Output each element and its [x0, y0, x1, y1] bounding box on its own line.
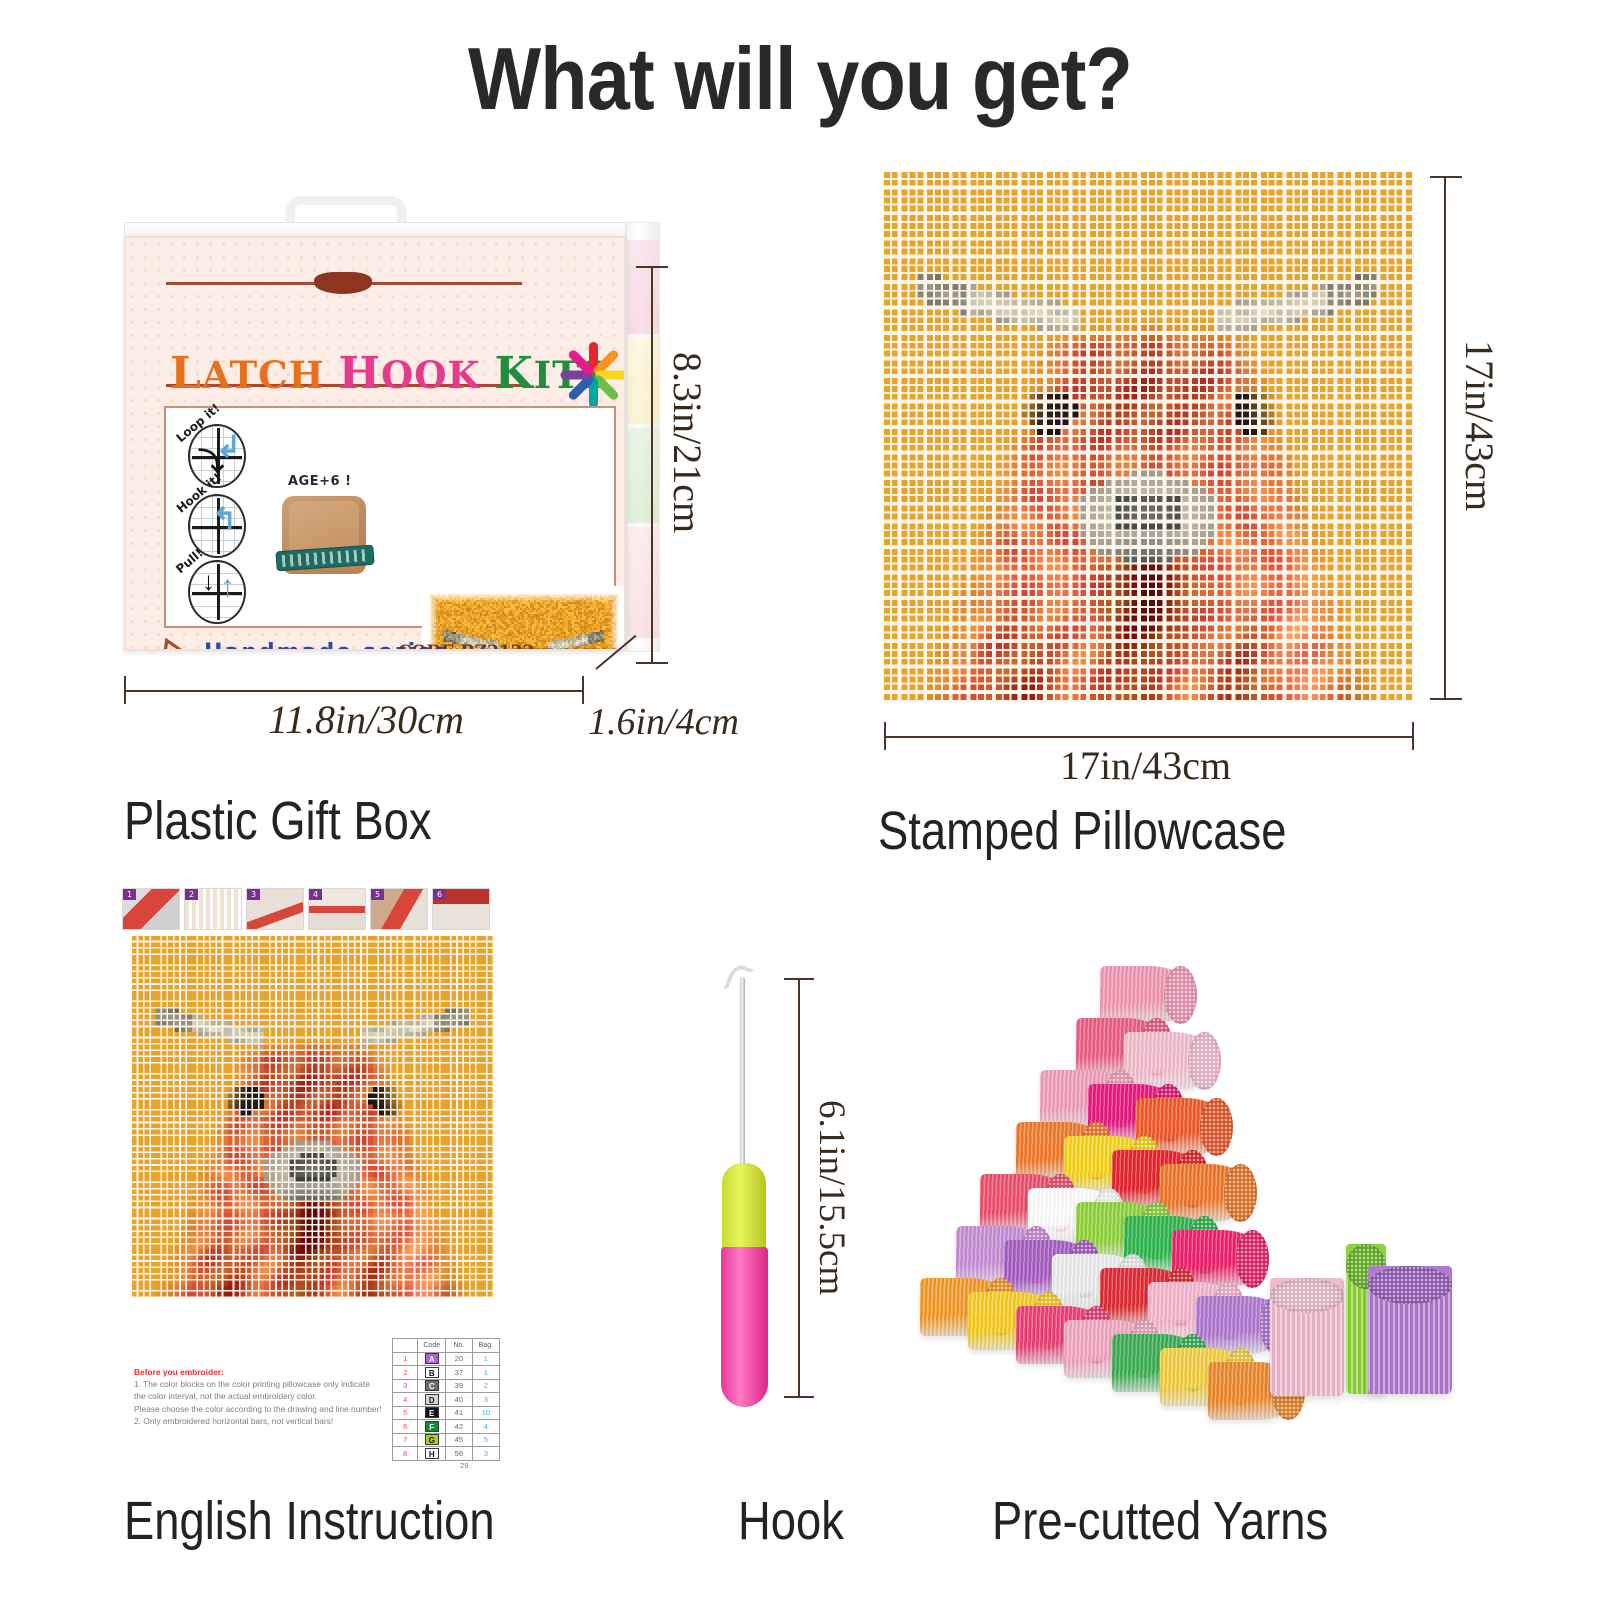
- row-color-code: C: [418, 1379, 446, 1393]
- pillow-width-tick-left: [884, 722, 886, 750]
- caption-hook: Hook: [738, 1490, 844, 1552]
- caption-english-instruction: English Instruction: [124, 1490, 495, 1552]
- row-bag: 3: [472, 1393, 499, 1407]
- step-diagram-pull: ↓ ↑: [188, 560, 246, 624]
- row-number: 56: [446, 1447, 473, 1461]
- yarn-piece: [1100, 966, 1196, 1024]
- row-bag: 3: [472, 1447, 499, 1461]
- box-height-tick-top: [636, 266, 668, 268]
- yarn-cut-end: [1224, 1164, 1257, 1222]
- row-index: 3: [393, 1379, 418, 1393]
- row-index: 8: [393, 1447, 418, 1461]
- box-width-tick-left: [124, 676, 126, 704]
- step-thumbnail-strip: 1 2 3 4 5 6: [122, 888, 490, 930]
- row-bag: 5: [472, 1433, 499, 1447]
- table-row: 3C392: [393, 1379, 500, 1393]
- row-number: 20: [446, 1352, 473, 1366]
- list-item: 2: [184, 888, 242, 930]
- table-row: 8H563: [393, 1447, 500, 1461]
- row-bag: 4: [472, 1420, 499, 1434]
- row-number: 41: [446, 1406, 473, 1420]
- ribbon-accent: ▷: [161, 628, 196, 651]
- list-item: 6: [432, 888, 490, 930]
- list-item: 1: [122, 888, 180, 930]
- caption-pre-cutted-yarns: Pre-cutted Yarns: [992, 1490, 1328, 1552]
- row-number: 37: [446, 1366, 473, 1380]
- yarn-piece: [1160, 1164, 1256, 1222]
- pillow-width-dimline: [884, 736, 1414, 738]
- note-line-2: the color interval, not the actual embro…: [134, 1391, 317, 1401]
- table-header-row: CodeNo.Bag.: [393, 1339, 500, 1353]
- hook-length-label: 6.1in/15.5cm: [810, 1100, 853, 1295]
- row-bag: 2: [472, 1379, 499, 1393]
- note-line-1: 1. The color blocks on the color printin…: [134, 1379, 370, 1389]
- pillow-height-tick-top: [1430, 176, 1462, 178]
- pinwheel-logo: [556, 338, 626, 412]
- brand-title: LLatchATCH HOOK KITS: [170, 348, 540, 399]
- table-column-header: Code: [418, 1339, 446, 1353]
- age-recommendation: AGE+6 !: [288, 474, 352, 489]
- note-line-4: 2. Only embroidered horizontal bars, not…: [134, 1416, 333, 1426]
- table-column-header: No.: [446, 1339, 473, 1353]
- thumb-number: 5: [371, 889, 384, 900]
- thumb-number: 4: [309, 889, 322, 900]
- yarn-cut-end: [1236, 1230, 1269, 1288]
- row-index: 5: [393, 1406, 418, 1420]
- row-color-code: D: [418, 1393, 446, 1407]
- hook-length-dimline: [798, 978, 800, 1398]
- thumb-number: 2: [185, 889, 198, 900]
- note-line-3: Please choose the color according to the…: [134, 1404, 382, 1414]
- caption-plastic-gift-box: Plastic Gift Box: [124, 790, 432, 852]
- row-index: 4: [393, 1393, 418, 1407]
- list-item: 3: [246, 888, 304, 930]
- row-index: 1: [393, 1352, 418, 1366]
- hook-handle-lower: [721, 1247, 768, 1407]
- pillow-width-label: 17in/43cm: [1060, 742, 1231, 789]
- row-bag: 1: [472, 1352, 499, 1366]
- caption-stamped-pillowcase: Stamped Pillowcase: [878, 800, 1286, 862]
- page-title: What will you get?: [96, 28, 1504, 130]
- hook-barb-icon: [723, 962, 755, 998]
- row-color-code: E: [418, 1406, 446, 1420]
- row-color-code: A: [418, 1352, 446, 1366]
- note-heading: Before you embroider:: [134, 1366, 384, 1378]
- table-row: 7G455: [393, 1433, 500, 1447]
- box-height-dimline: [651, 266, 653, 664]
- thumb-number: 1: [123, 889, 136, 900]
- pillow-height-tick-bottom: [1430, 698, 1462, 700]
- box-width-label: 11.8in/30cm: [268, 696, 464, 743]
- infographic-root: What will you get? LLatchATCH HOOK KITS: [0, 0, 1600, 1600]
- row-bag: 10: [472, 1406, 499, 1420]
- box-depth-label: 1.6in/4cm: [588, 700, 739, 744]
- color-code-table: CodeNo.Bag. 1A2012B3713C3924D4035E41106F…: [392, 1338, 500, 1461]
- pillow-width-tick-right: [1412, 722, 1414, 750]
- box-window: ↲ ⤵ Loop it! ↰ Hook it! ↓ ↑ Pull! AGE+: [164, 406, 616, 628]
- list-item: 5: [370, 888, 428, 930]
- table-row: 1A201: [393, 1352, 500, 1366]
- box-width-dimline: [124, 690, 584, 692]
- yarn-bundle-top: [1368, 1266, 1452, 1304]
- plastic-gift-box-illustration: LLatchATCH HOOK KITS ↲ ⤵: [108, 196, 653, 676]
- table-row: 6F424: [393, 1420, 500, 1434]
- pre-cutted-yarns-illustration: [950, 948, 1450, 1428]
- instruction-chart-mosaic: [132, 936, 494, 1298]
- hook-length-tick-top: [784, 978, 814, 980]
- row-number: 39: [446, 1379, 473, 1393]
- list-item: 4: [308, 888, 366, 930]
- before-you-embroider-note: Before you embroider: 1. The color block…: [134, 1366, 384, 1427]
- thumb-number: 3: [247, 889, 260, 900]
- stamped-pillowcase-mosaic: [884, 172, 1414, 702]
- english-instruction-sheet: 1 2 3 4 5 6 Before you embroider: 1. The…: [120, 888, 500, 1453]
- row-index: 7: [393, 1433, 418, 1447]
- pillow-height-dimline: [1444, 176, 1446, 700]
- yarn-cut-end: [1188, 1032, 1221, 1090]
- table-column-header: [393, 1339, 418, 1353]
- table-row: 2B371: [393, 1366, 500, 1380]
- box-height-tick-bottom: [636, 662, 668, 664]
- table-total: 29: [460, 1461, 468, 1470]
- row-bag: 1: [472, 1366, 499, 1380]
- row-number: 42: [446, 1420, 473, 1434]
- row-index: 2: [393, 1366, 418, 1380]
- row-color-code: B: [418, 1366, 446, 1380]
- hook-needle: [740, 977, 745, 1182]
- table-column-header: Bag.: [472, 1339, 499, 1353]
- row-number: 40: [446, 1393, 473, 1407]
- row-number: 45: [446, 1433, 473, 1447]
- table-row: 4D403: [393, 1393, 500, 1407]
- product-size: SIZE:43X43CM: [508, 646, 626, 651]
- box-width-tick-right: [582, 676, 584, 704]
- hook-length-tick-bottom: [784, 1396, 814, 1398]
- row-color-code: H: [418, 1447, 446, 1461]
- row-color-code: G: [418, 1433, 446, 1447]
- yarn-piece: [1124, 1032, 1220, 1090]
- hook-handle-upper: [722, 1163, 766, 1251]
- yarn-cut-end: [1200, 1098, 1233, 1156]
- thumb-number: 6: [433, 889, 446, 900]
- yarn-bundle: [1270, 1278, 1344, 1396]
- yarn-cut-end: [1164, 966, 1197, 1024]
- yarn-bundle: [1368, 1266, 1452, 1394]
- box-side-panel: [626, 222, 660, 652]
- box-height-label: 8.3in/21cm: [664, 352, 711, 533]
- pillow-height-label: 17in/43cm: [1456, 340, 1503, 511]
- box-front-panel: LLatchATCH HOOK KITS ↲ ⤵: [124, 236, 626, 651]
- table-row: 5E4110: [393, 1406, 500, 1420]
- row-index: 6: [393, 1420, 418, 1434]
- row-color-code: F: [418, 1420, 446, 1434]
